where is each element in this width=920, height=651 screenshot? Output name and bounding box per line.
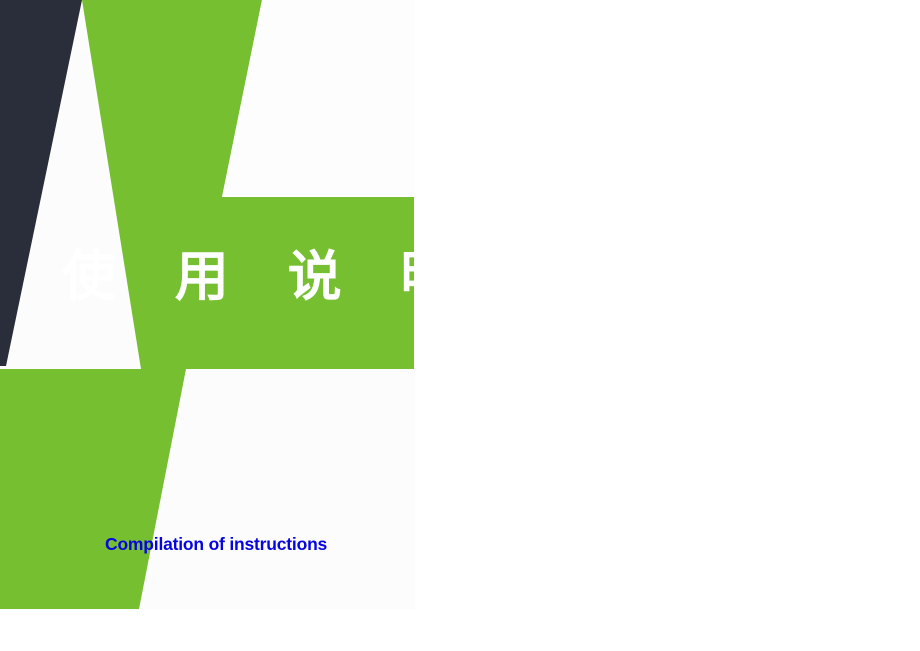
decorative-background-shapes bbox=[0, 0, 415, 610]
page-subtitle: Compilation of instructions bbox=[0, 534, 415, 555]
slide-canvas: 使 用 说 明 Compilation of instructions bbox=[0, 0, 415, 610]
slide-root: 使 用 说 明 Compilation of instructions bbox=[0, 0, 920, 651]
slide-subtitle-block: Compilation of instructions bbox=[0, 534, 415, 555]
